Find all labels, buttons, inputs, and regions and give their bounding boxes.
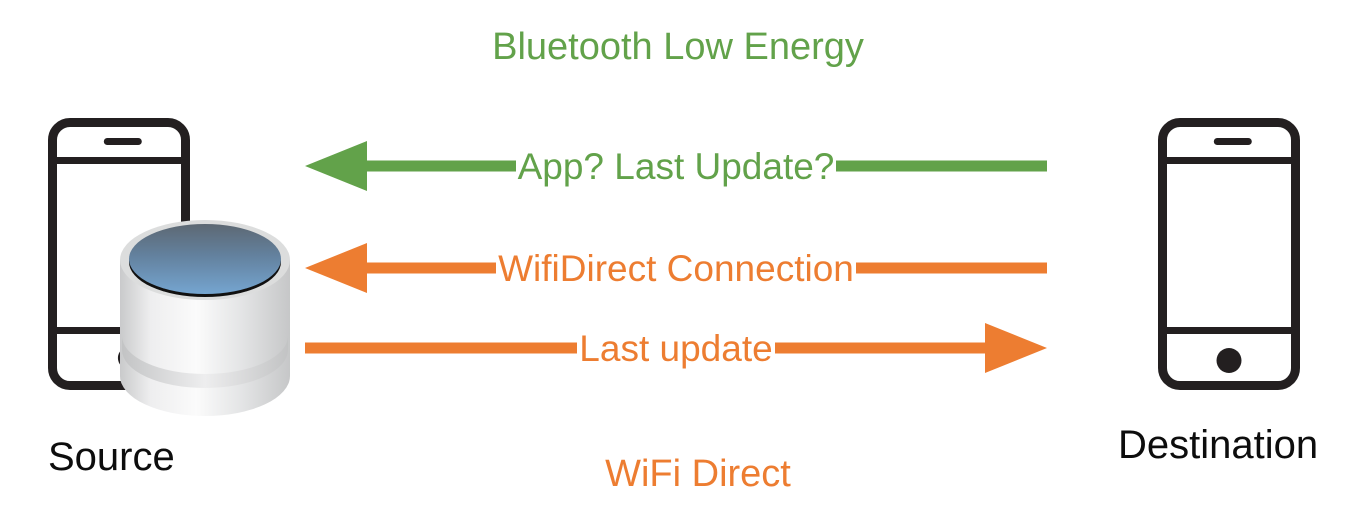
message-arrow-ble-query: App? Last Update? [305,138,1047,194]
node-label-source: Source [48,437,175,477]
message-label-wifidirect-connection: WifiDirect Connection [496,250,856,287]
diagram-canvas: Bluetooth Low Energy [0,0,1356,509]
smartphone-icon-destination [1158,118,1300,390]
phone-speaker-icon [104,138,142,145]
protocol-title-wifi-direct: WiFi Direct [418,455,978,493]
phone-screen [1167,157,1291,334]
phone-home-button-icon [1217,348,1242,373]
protocol-title-bluetooth: Bluetooth Low Energy [0,28,1356,66]
message-label-last-update: Last update [577,330,774,367]
message-arrow-wifidirect-connection: WifiDirect Connection [305,240,1047,296]
message-arrow-last-update: Last update [305,320,1047,376]
message-label-ble-query: App? Last Update? [516,148,837,185]
node-label-destination: Destination [1118,425,1318,465]
database-cylinder-icon [116,218,294,418]
phone-speaker-icon [1214,138,1252,145]
